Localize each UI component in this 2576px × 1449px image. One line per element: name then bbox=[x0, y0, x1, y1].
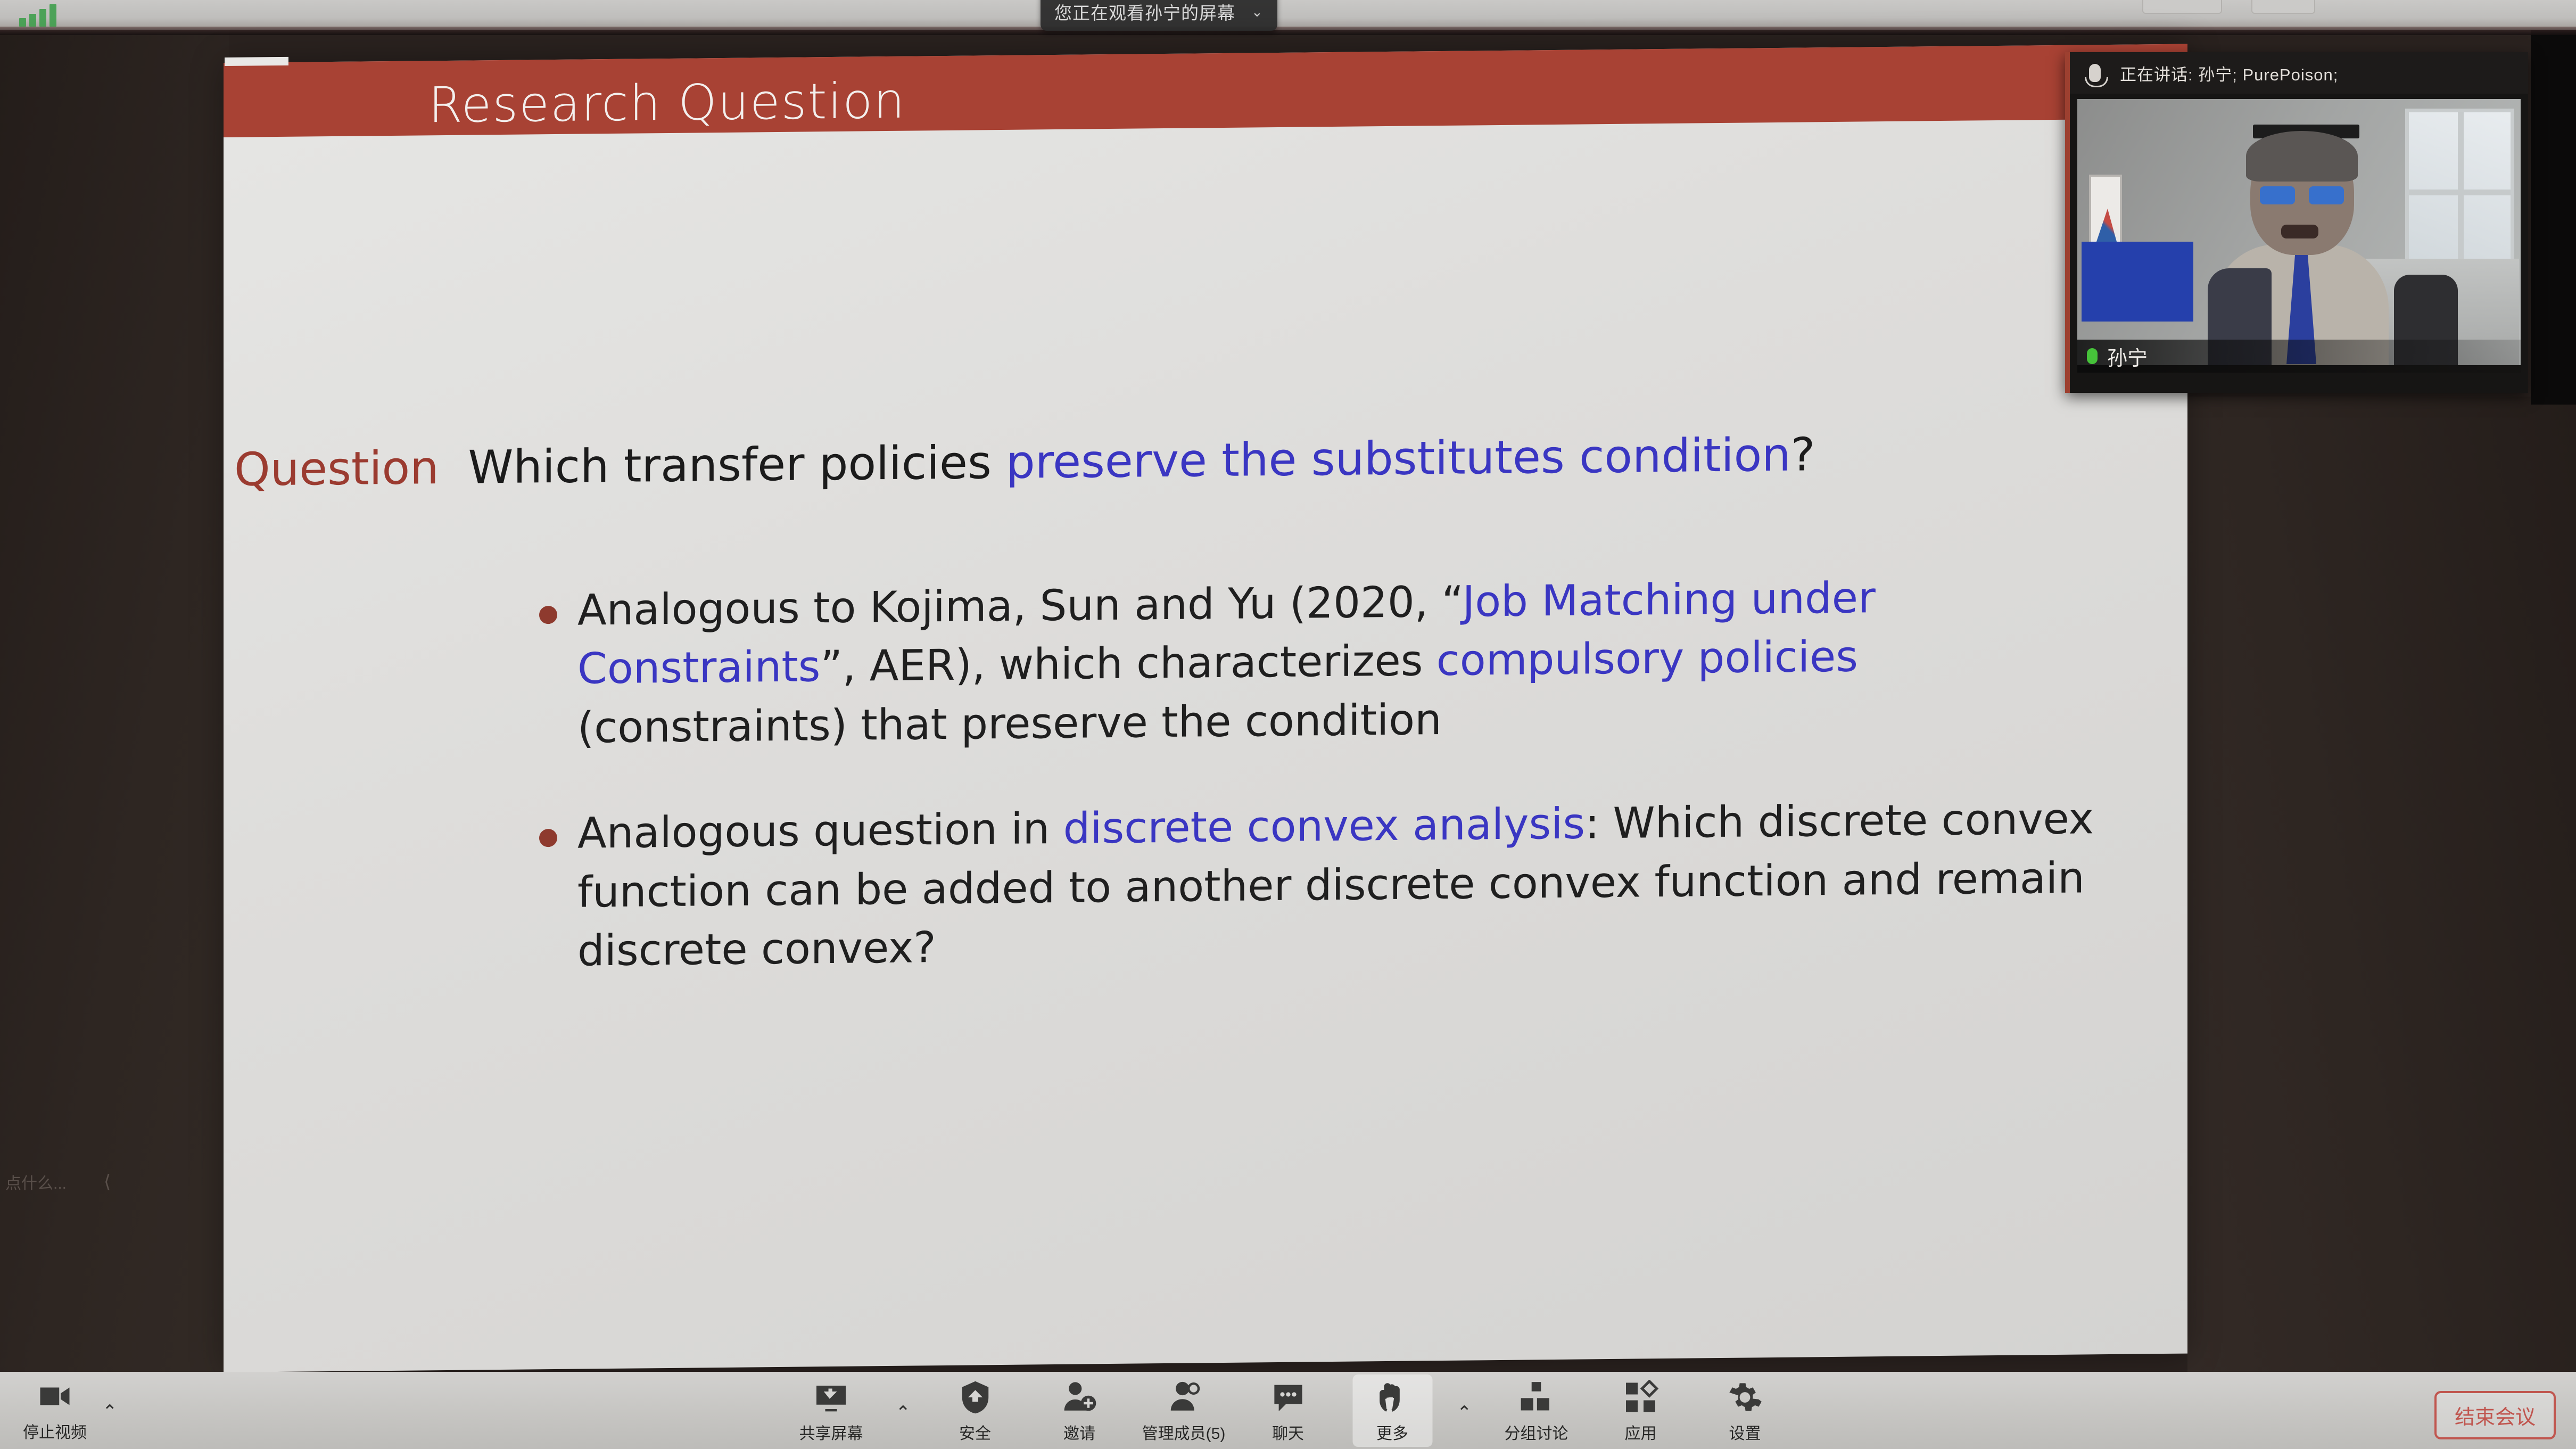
breakout-rooms-icon bbox=[1517, 1379, 1556, 1416]
active-speaker-strip: 正在讲话: 孙宁; PurePoison; bbox=[2070, 52, 2528, 94]
toolbar-button-settings[interactable]: 设置 bbox=[1705, 1374, 1785, 1447]
end-meeting-button[interactable]: 结束会议 bbox=[2434, 1391, 2556, 1439]
toolbar-label: 邀请 bbox=[1063, 1420, 1095, 1444]
question-label: Question bbox=[234, 441, 439, 497]
toolbar-label: 安全 bbox=[959, 1420, 991, 1444]
question-highlight: preserve the substitutes condition bbox=[1006, 429, 1791, 489]
shield-icon bbox=[955, 1379, 995, 1416]
toolbar-button-security[interactable]: 安全 bbox=[935, 1374, 1015, 1447]
microphone-active-icon bbox=[2087, 348, 2098, 364]
toolbar-button-stop-video[interactable]: 停止视频 bbox=[15, 1373, 95, 1446]
toolbar-button-apps[interactable]: 应用 bbox=[1601, 1374, 1681, 1447]
viewing-screen-banner[interactable]: 您正在观看孙宁的屏幕 ⌄ bbox=[1041, 0, 1277, 31]
gear-icon bbox=[1725, 1379, 1765, 1416]
top-bar-shadow bbox=[0, 27, 2576, 35]
slide-header-marker bbox=[225, 57, 288, 66]
side-panel-hint[interactable]: 点什么... ⟨ bbox=[5, 1166, 176, 1198]
bullet-1-seg-2: ”, AER), which characterizes bbox=[820, 636, 1436, 691]
toolbar-button-participants[interactable]: 管理成员(5) bbox=[1144, 1374, 1224, 1447]
toolbar-label: 管理成员(5) bbox=[1142, 1420, 1226, 1444]
bullet-text: Analogous to Kojima, Sun and Yu (2020, “… bbox=[577, 566, 2108, 758]
toolbar-center-group: 共享屏幕 ⌃ 安全 邀请 管理成员(5) bbox=[791, 1374, 1785, 1447]
toolbar-left-group: 停止视频 ⌃ bbox=[15, 1373, 118, 1446]
bullet-1-seg-4: (constraints) that preserve the conditio… bbox=[577, 695, 1442, 753]
chevron-up-icon[interactable]: ⌃ bbox=[896, 1402, 911, 1447]
toolbar-label: 设置 bbox=[1729, 1420, 1761, 1444]
list-item: Analogous to Kojima, Sun and Yu (2020, “… bbox=[522, 566, 2108, 758]
raise-hand-icon bbox=[1373, 1379, 1412, 1416]
active-speaker-label: 正在讲话: 孙宁; PurePoison; bbox=[2120, 61, 2338, 85]
video-feed bbox=[2077, 99, 2521, 365]
chevron-down-icon[interactable]: ⌄ bbox=[1251, 4, 1264, 20]
bullet-1-seg-0: Analogous to Kojima, Sun and Yu (2020, “ bbox=[577, 577, 1463, 635]
question-text-after: ? bbox=[1791, 428, 1815, 481]
toolbar-button-reactions[interactable]: 更多 bbox=[1352, 1374, 1432, 1447]
bullet-dot-icon bbox=[539, 829, 557, 847]
microphone-icon bbox=[2089, 64, 2101, 82]
window-control-button-2[interactable] bbox=[2251, 0, 2315, 14]
viewing-screen-text: 您正在观看孙宁的屏幕 bbox=[1054, 0, 1235, 24]
toolbar-label: 聊天 bbox=[1272, 1420, 1304, 1444]
toolbar-label: 停止视频 bbox=[23, 1419, 87, 1443]
question-line: Question Which transfer policies preserv… bbox=[234, 425, 2129, 497]
window-control-button-1[interactable] bbox=[2142, 0, 2222, 14]
room-surround-top-right bbox=[2531, 0, 2576, 405]
add-person-icon bbox=[1060, 1379, 1099, 1416]
side-panel-hint-text: 点什么... bbox=[5, 1170, 67, 1193]
chevron-left-icon[interactable]: ⟨ bbox=[104, 1171, 111, 1192]
slide-body: Question Which transfer policies preserv… bbox=[224, 119, 2187, 1372]
bullet-text: Analogous question in discrete convex an… bbox=[577, 789, 2108, 981]
toolbar-button-invite[interactable]: 邀请 bbox=[1039, 1374, 1119, 1447]
video-camera-icon bbox=[35, 1378, 75, 1415]
toolbar-button-share-screen[interactable]: 共享屏幕 bbox=[791, 1374, 871, 1447]
chevron-up-icon[interactable]: ⌃ bbox=[1457, 1402, 1472, 1447]
bullet-2-seg-0: Analogous question in bbox=[577, 804, 1063, 858]
toolbar-label: 共享屏幕 bbox=[799, 1420, 863, 1444]
share-screen-icon bbox=[812, 1379, 851, 1416]
chevron-up-icon[interactable]: ⌃ bbox=[102, 1401, 118, 1446]
shared-slide: Research Question Question Which transfe… bbox=[224, 44, 2187, 1372]
apps-grid-icon bbox=[1621, 1379, 1661, 1416]
participant-name: 孙宁 bbox=[2107, 342, 2148, 371]
bullet-list: Analogous to Kojima, Sun and Yu (2020, “… bbox=[522, 566, 2108, 1028]
room-surround-right bbox=[2187, 397, 2576, 1376]
toolbar-button-breakout-rooms[interactable]: 分组讨论 bbox=[1497, 1374, 1576, 1447]
chat-bubble-icon bbox=[1268, 1379, 1308, 1416]
zoom-toolbar: 停止视频 ⌃ 共享屏幕 ⌃ 安全 邀请 bbox=[0, 1372, 2576, 1449]
bullet-2-seg-1: discrete convex analysis bbox=[1063, 799, 1586, 853]
blue-cabinet bbox=[2082, 242, 2193, 322]
bullet-dot-icon bbox=[539, 606, 557, 624]
toolbar-label: 分组讨论 bbox=[1505, 1420, 1568, 1444]
participant-figure bbox=[2213, 135, 2389, 365]
signal-bars-icon bbox=[19, 4, 56, 27]
toolbar-label: 更多 bbox=[1376, 1420, 1408, 1444]
list-item: Analogous question in discrete convex an… bbox=[522, 789, 2108, 981]
screen-photo: 您正在观看孙宁的屏幕 ⌄ Research Question Question … bbox=[0, 0, 2576, 1449]
bullet-1-seg-3: compulsory policies bbox=[1436, 632, 1858, 686]
window-background bbox=[2405, 109, 2514, 284]
participant-video-panel[interactable]: 正在讲话: 孙宁; PurePoison; 孙宁 bbox=[2065, 52, 2528, 393]
participants-icon bbox=[1164, 1379, 1203, 1416]
participant-name-bar: 孙宁 bbox=[2077, 340, 2521, 373]
slide-title: Research Question bbox=[428, 72, 906, 134]
question-text-before: Which transfer policies bbox=[468, 436, 1006, 495]
toolbar-label: 应用 bbox=[1625, 1420, 1657, 1444]
toolbar-button-chat[interactable]: 聊天 bbox=[1248, 1374, 1328, 1447]
